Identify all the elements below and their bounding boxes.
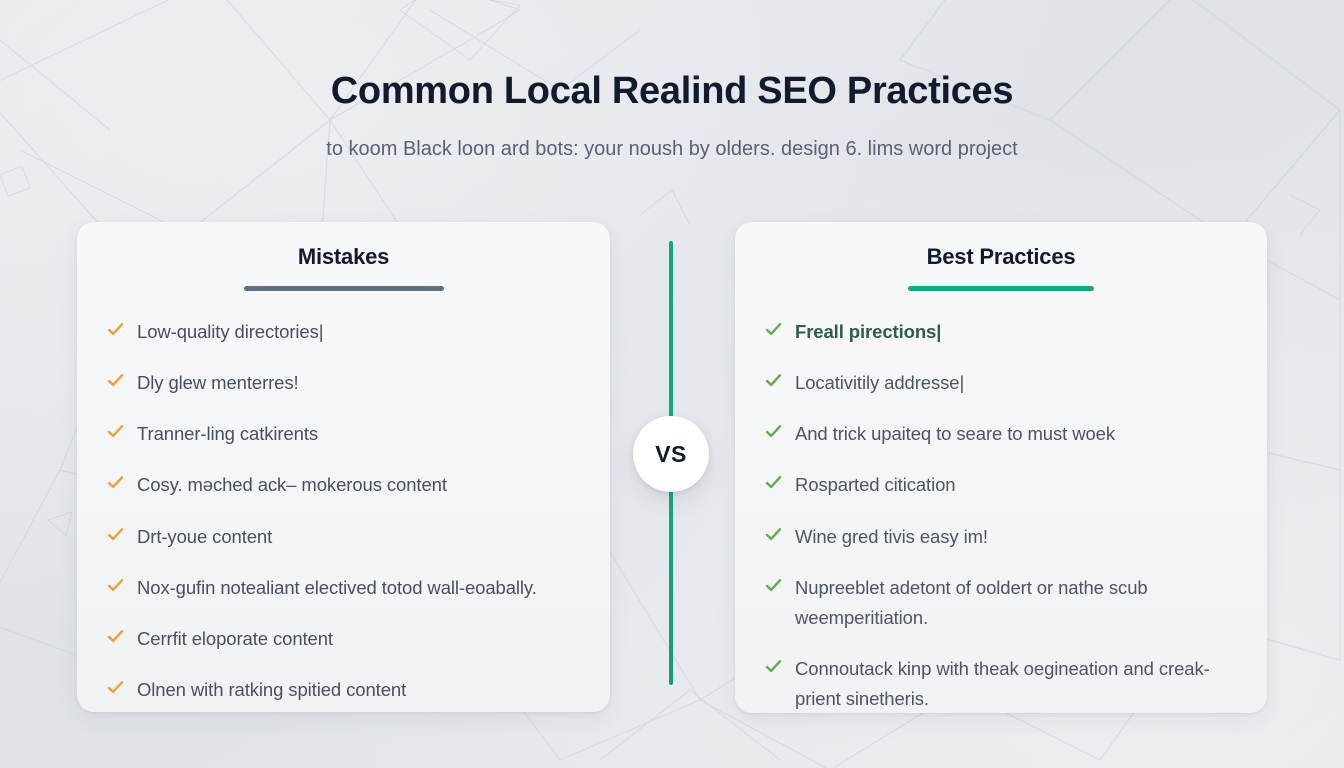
- list-item: Freall pirections|: [765, 317, 1237, 347]
- list-item: Rosparted citication: [765, 470, 1237, 500]
- mistakes-card: Mistakes Low-quality directories|Dly gle…: [77, 222, 610, 712]
- best-practices-card: Best Practices Freall pirections|Locativ…: [735, 222, 1267, 713]
- mistakes-list: Low-quality directories|Dly glew menterr…: [107, 317, 580, 705]
- list-item-label: Cerrfit eloporate content: [137, 624, 333, 654]
- list-item: Connoutack kinp with theak oegineation a…: [765, 654, 1237, 714]
- orange-check-icon: [107, 423, 124, 440]
- list-item: Locativitily addresse|: [765, 368, 1237, 398]
- green-check-icon: [765, 372, 782, 389]
- list-item-label: Olnen with ratking spitied content: [137, 675, 406, 705]
- list-item: Low-quality directories|: [107, 317, 580, 347]
- page-title: Common Local Realind SEO Practices: [0, 70, 1344, 114]
- orange-check-icon: [107, 321, 124, 338]
- green-check-icon: [765, 321, 782, 338]
- green-check-icon: [765, 474, 782, 491]
- best-practices-card-title: Best Practices: [765, 244, 1237, 270]
- page-header: Common Local Realind SEO Practices to ko…: [0, 0, 1344, 161]
- best-practices-title-underline: [908, 286, 1094, 291]
- list-item: Cosy. məched ack– mokerous content: [107, 470, 580, 500]
- list-item-label: Dly glew menterres!: [137, 368, 299, 398]
- orange-check-icon: [107, 628, 124, 645]
- list-item: Nox-gufin notealiant electived totod wal…: [107, 573, 580, 603]
- list-item: Wine gred tivis easy im!: [765, 522, 1237, 552]
- list-item-label: Nupreeblet adetont of ooldert or nathe s…: [795, 573, 1237, 633]
- list-item-label: Cosy. məched ack– mokerous content: [137, 470, 447, 500]
- list-item: Cerrfit eloporate content: [107, 624, 580, 654]
- green-check-icon: [765, 577, 782, 594]
- vs-badge: VS: [633, 416, 709, 492]
- green-check-icon: [765, 423, 782, 440]
- list-item: Drt-youe content: [107, 522, 580, 552]
- page-subtitle: to koom Black loon ard bots: your noush …: [0, 138, 1344, 161]
- list-item-label: Nox-gufin notealiant electived totod wal…: [137, 573, 537, 603]
- list-item-label: Rosparted citication: [795, 470, 955, 500]
- list-item: Dly glew menterres!: [107, 368, 580, 398]
- vs-label: VS: [655, 441, 686, 468]
- list-item: Tranner-ling catkirents: [107, 419, 580, 449]
- list-item-label: Drt-youe content: [137, 522, 272, 552]
- list-item-label: And trick upaiteq to seare to must woek: [795, 419, 1115, 449]
- list-item-label: Connoutack kinp with theak oegineation a…: [795, 654, 1237, 714]
- green-check-icon: [765, 526, 782, 543]
- list-item: And trick upaiteq to seare to must woek: [765, 419, 1237, 449]
- list-item-label: Tranner-ling catkirents: [137, 419, 318, 449]
- list-item: Nupreeblet adetont of ooldert or nathe s…: [765, 573, 1237, 633]
- green-check-icon: [765, 658, 782, 675]
- orange-check-icon: [107, 372, 124, 389]
- list-item-label: Locativitily addresse|: [795, 368, 964, 398]
- orange-check-icon: [107, 474, 124, 491]
- orange-check-icon: [107, 577, 124, 594]
- orange-check-icon: [107, 526, 124, 543]
- list-item: Olnen with ratking spitied content: [107, 675, 580, 705]
- mistakes-title-underline: [244, 286, 444, 291]
- best-practices-list: Freall pirections|Locativitily addresse|…: [765, 317, 1237, 714]
- list-item-label: Low-quality directories|: [137, 317, 323, 347]
- mistakes-card-title: Mistakes: [107, 244, 580, 270]
- list-item-label: Wine gred tivis easy im!: [795, 522, 988, 552]
- list-item-label: Freall pirections|: [795, 317, 941, 347]
- orange-check-icon: [107, 679, 124, 696]
